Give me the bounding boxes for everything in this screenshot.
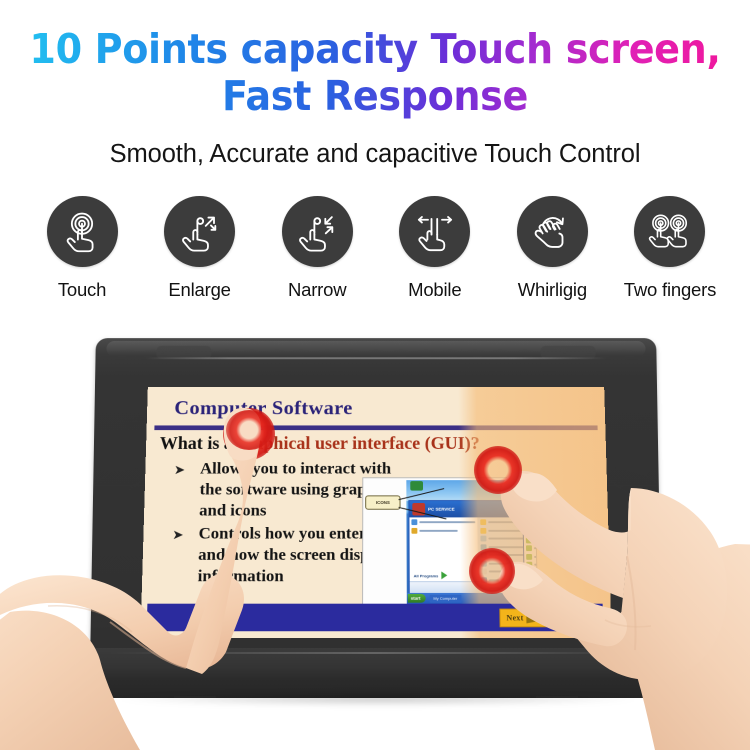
- xp-desktop-icon: [410, 481, 423, 491]
- monitor-bezel: Computer Software What is a graphical us…: [90, 338, 662, 666]
- slide-question: What is a graphical user interface (GUI)…: [159, 435, 598, 455]
- gesture-item-narrow[interactable]: Narrow: [261, 196, 373, 301]
- list-item: [526, 529, 538, 535]
- monitor-drop-shadow: [118, 692, 638, 706]
- page-title: 10 Points capacity Touch screen, Fast Re…: [26, 26, 724, 120]
- monitor-screen[interactable]: Computer Software What is a graphical us…: [140, 387, 611, 638]
- gesture-item-enlarge[interactable]: Enlarge: [144, 196, 256, 301]
- xp-window-titlebar: [523, 508, 538, 517]
- page-subtitle: Smooth, Accurate and capacitive Touch Co…: [0, 140, 750, 169]
- xp-desktop: PC SERVICE: [406, 480, 537, 604]
- list-item: [411, 519, 474, 525]
- gesture-label: Two fingers: [624, 279, 716, 301]
- slide-footer-bar: Next: [147, 604, 604, 632]
- two-finger-swipe-horizontal-icon: [399, 196, 470, 267]
- xp-logoff-button: [509, 585, 525, 593]
- list-item: [526, 554, 538, 560]
- list-item: [526, 570, 538, 576]
- xp-start-button: start: [408, 594, 426, 603]
- xp-window-toolbar: [523, 516, 538, 527]
- gesture-label: Narrow: [288, 279, 346, 301]
- gesture-item-mobile[interactable]: Mobile: [379, 196, 491, 301]
- slide-question-prefix: What is a: [160, 435, 238, 454]
- list-item: [526, 562, 538, 568]
- windows-xp-start-menu: PC SERVICE: [362, 477, 538, 604]
- xp-taskbar: start My Computer: [407, 593, 537, 604]
- next-button-label: Next: [506, 614, 523, 623]
- gesture-label: Mobile: [408, 279, 461, 301]
- bezel-seam: [146, 357, 606, 358]
- slide-title: Computer Software: [174, 397, 353, 420]
- gesture-label: Touch: [58, 279, 106, 301]
- rotate-hand-icon: [517, 196, 588, 267]
- next-button[interactable]: Next: [499, 609, 573, 628]
- xp-taskbar-item: My Computer: [429, 594, 461, 602]
- xp-shutdown-button: [528, 585, 538, 593]
- gesture-item-whirligig[interactable]: Whirligig: [496, 196, 608, 301]
- pinch-close-arrows-icon: [282, 196, 353, 267]
- pinch-open-arrows-icon: [164, 196, 235, 267]
- promo-banner: 10 Points capacity Touch screen, Fast Re…: [0, 0, 750, 750]
- list-item: [411, 527, 475, 533]
- gesture-item-two-fingers[interactable]: Two fingers: [614, 196, 726, 301]
- gesture-label: Enlarge: [168, 279, 230, 301]
- gesture-item-touch[interactable]: Touch: [26, 196, 138, 301]
- xp-all-programs: All Programs: [414, 571, 448, 579]
- touchscreen-monitor: Computer Software What is a graphical us…: [78, 330, 674, 702]
- callout-label: ICONS: [365, 495, 400, 509]
- gesture-icon-row: Touch Enlarge: [26, 196, 726, 301]
- list-item: [526, 545, 538, 551]
- arrow-right-icon: [526, 612, 558, 624]
- forward-icon: [534, 519, 538, 524]
- base-highlight: [108, 652, 644, 654]
- one-finger-tap-icon: [47, 196, 118, 267]
- xp-window-body: [524, 527, 538, 580]
- gesture-label: Whirligig: [518, 279, 587, 301]
- two-finger-tap-icon: [634, 196, 705, 267]
- list-item: [526, 537, 538, 543]
- slide-title-rule: [154, 425, 597, 430]
- xp-username: PC SERVICE: [428, 507, 455, 512]
- xp-secondary-window: [522, 507, 538, 586]
- xp-wallpaper: [406, 480, 535, 501]
- slide-question-highlight: graphical user interface (GUI)?: [237, 435, 480, 454]
- monitor-base: [78, 648, 674, 698]
- back-icon: [526, 519, 531, 524]
- chevron-right-icon: [441, 571, 447, 579]
- presentation-slide: Computer Software What is a graphical us…: [140, 387, 611, 638]
